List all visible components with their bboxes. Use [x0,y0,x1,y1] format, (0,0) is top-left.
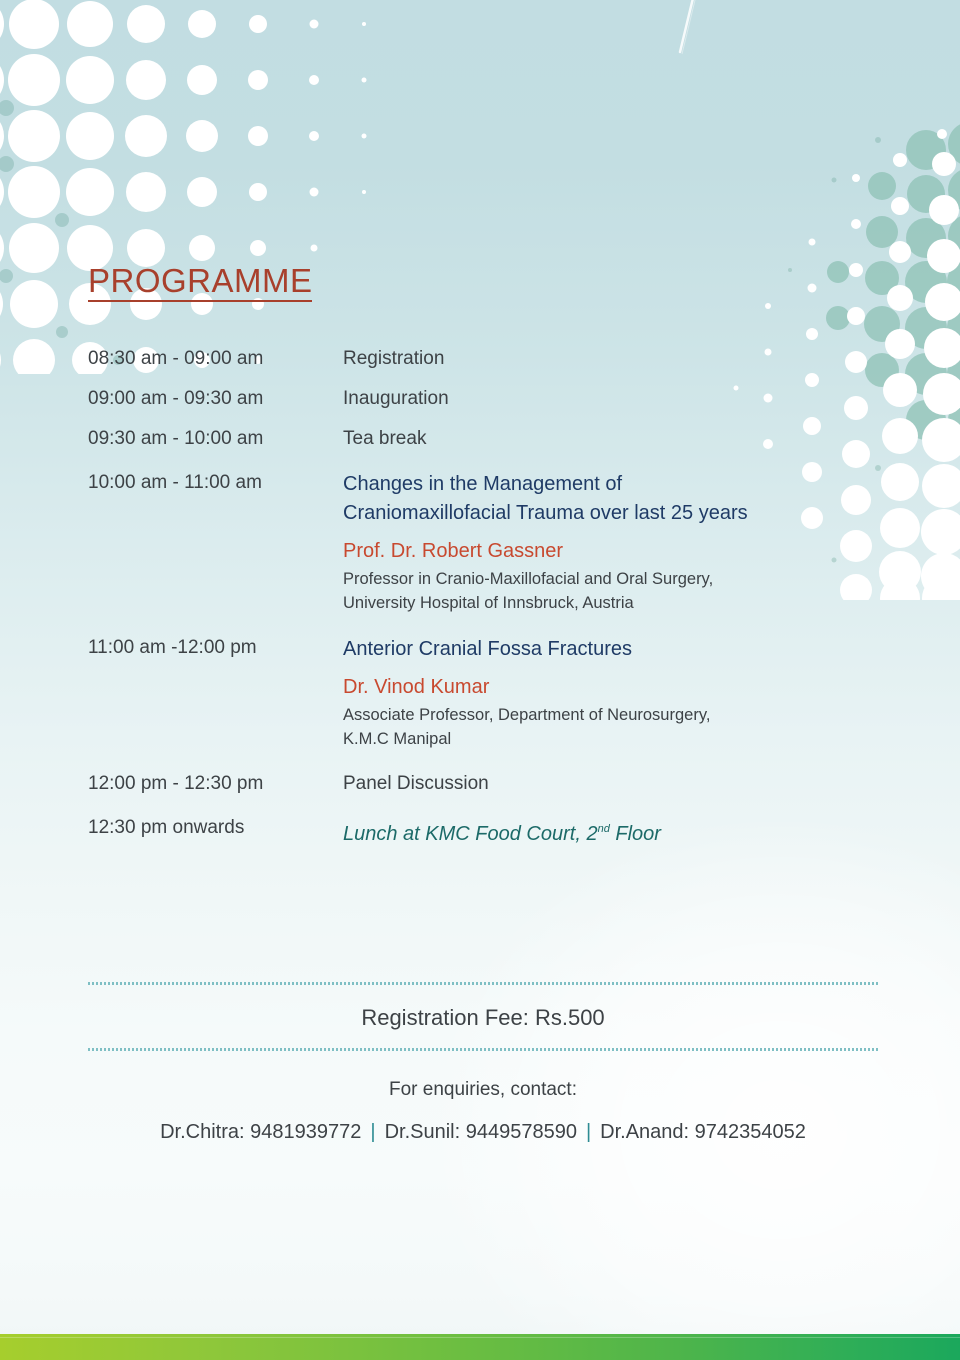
schedule-body: Changes in the Management of Craniomaxil… [343,470,888,615]
schedule-list: 08:30 am - 09:00 am Registration 09:00 a… [88,346,888,862]
footer-section: Registration Fee: Rs.500 For enquiries, … [88,982,878,1147]
speaker-affiliation: Associate Professor, Department of Neuro… [343,703,888,751]
schedule-time: 08:30 am - 09:00 am [88,346,343,372]
talk-title: Changes in the Management of Craniomaxil… [343,470,888,528]
lunch-text-prefix: Lunch at KMC Food Court, 2 [343,823,598,845]
schedule-body: Registration [343,346,888,372]
lunch-label: Lunch at KMC Food Court, 2nd Floor [343,815,888,848]
schedule-row-tea-break: 09:30 am - 10:00 am Tea break [88,426,888,452]
schedule-body: Lunch at KMC Food Court, 2nd Floor [343,815,888,848]
schedule-label: Panel Discussion [343,771,888,797]
speaker-affiliation: Professor in Cranio-Maxillofacial and Or… [343,567,888,615]
schedule-body: Inauguration [343,386,888,412]
talk-title: Anterior Cranial Fossa Fractures [343,635,888,664]
contact-phone-anand: 9742354052 [695,1121,806,1143]
diagonal-streak-decoration [676,0,698,58]
affiliation-line-2: K.M.C Manipal [343,730,451,748]
affiliation-line-2: University Hospital of Innsbruck, Austri… [343,594,634,612]
schedule-row-panel-discussion: 12:00 pm - 12:30 pm Panel Discussion [88,771,888,797]
enquiries-label: For enquiries, contact: [88,1051,878,1104]
schedule-row-talk-gassner: 10:00 am - 11:00 am Changes in the Manag… [88,470,888,615]
contact-list: Dr.Chitra: 9481939772|Dr.Sunil: 94495785… [88,1104,878,1147]
schedule-time: 09:00 am - 09:30 am [88,386,343,412]
contact-phone-sunil: 9449578590 [466,1121,577,1143]
schedule-label: Tea break [343,426,888,452]
schedule-row-inauguration: 09:00 am - 09:30 am Inauguration [88,386,888,412]
schedule-time: 12:30 pm onwards [88,815,343,841]
schedule-row-talk-kumar: 11:00 am -12:00 pm Anterior Cranial Foss… [88,635,888,751]
lunch-ordinal-suffix: nd [598,823,610,835]
affiliation-line-1: Professor in Cranio-Maxillofacial and Or… [343,570,713,588]
schedule-body: Panel Discussion [343,771,888,797]
speaker-name: Dr. Vinod Kumar [343,673,888,701]
page-title: PROGRAMME [88,262,313,300]
schedule-label: Inauguration [343,386,888,412]
contact-name-sunil: Dr.Sunil: [385,1121,461,1143]
talk-title-line-2: Craniomaxillofacial Trauma over last 25 … [343,502,748,524]
schedule-time: 10:00 am - 11:00 am [88,470,343,496]
schedule-row-registration: 08:30 am - 09:00 am Registration [88,346,888,372]
schedule-time: 12:00 pm - 12:30 pm [88,771,343,797]
programme-page: PROGRAMME 08:30 am - 09:00 am Registrati… [0,0,960,1360]
schedule-body: Tea break [343,426,888,452]
contact-separator: | [577,1121,600,1143]
schedule-body: Anterior Cranial Fossa Fractures Dr. Vin… [343,635,888,751]
schedule-time: 09:30 am - 10:00 am [88,426,343,452]
contact-phone-chitra: 9481939772 [250,1121,361,1143]
lunch-text-suffix: Floor [610,823,661,845]
schedule-row-lunch: 12:30 pm onwards Lunch at KMC Food Court… [88,815,888,848]
page-title-underline [88,300,312,302]
schedule-label: Registration [343,346,888,372]
speaker-name: Prof. Dr. Robert Gassner [343,537,888,565]
contact-name-chitra: Dr.Chitra: [160,1121,244,1143]
contact-name-anand: Dr.Anand: [600,1121,689,1143]
talk-title-line-1: Changes in the Management of [343,473,622,495]
bottom-green-band [0,1334,960,1360]
schedule-time: 11:00 am -12:00 pm [88,635,343,661]
halftone-dots-top-left [0,0,380,374]
registration-fee: Registration Fee: Rs.500 [88,985,878,1048]
contact-separator: | [361,1121,384,1143]
affiliation-line-1: Associate Professor, Department of Neuro… [343,706,710,724]
